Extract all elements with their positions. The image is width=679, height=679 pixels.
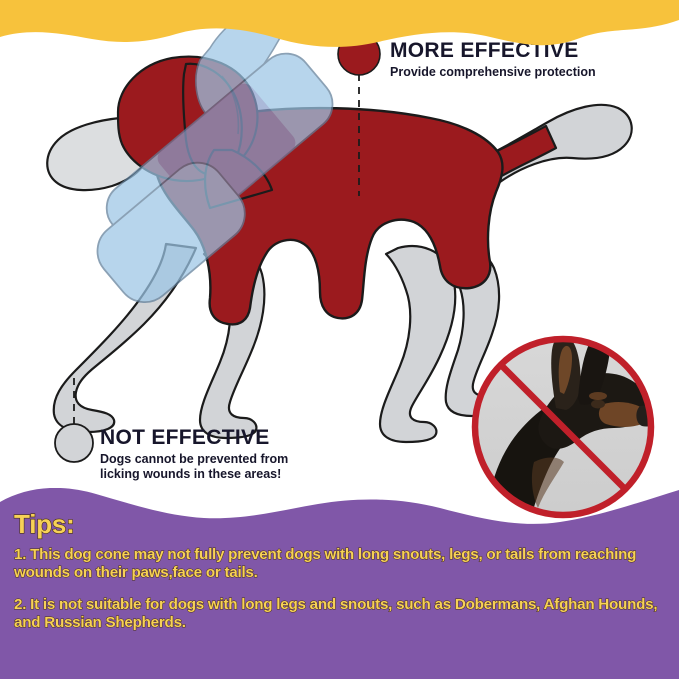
- tips-text-block: Tips: 1. This dog cone may not fully pre…: [14, 510, 669, 633]
- tips-item-1: 1. This dog cone may not fully prevent d…: [14, 546, 669, 582]
- infographic-poster: MORE EFFECTIVE Provide comprehensive pro…: [0, 0, 679, 679]
- tips-heading: Tips:: [14, 510, 669, 539]
- tips-item-2: 2. It is not suitable for dogs with long…: [14, 596, 669, 632]
- tips-panel: Tips: 1. This dog cone may not fully pre…: [0, 488, 679, 679]
